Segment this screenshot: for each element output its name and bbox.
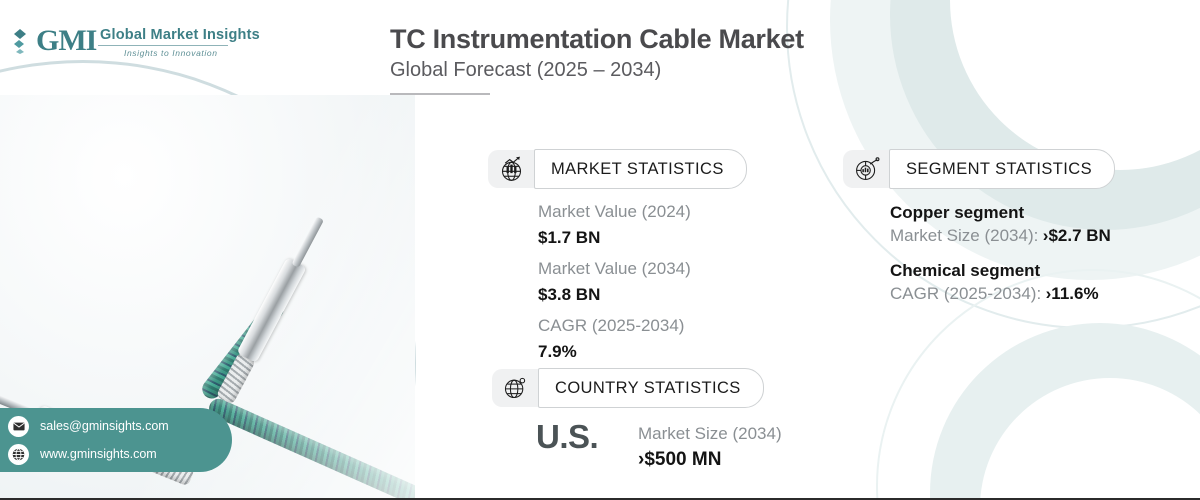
segment-row-2: Chemical segment CAGR (2025-2034): ›11.6… — [890, 257, 1099, 304]
contact-website-row[interactable]: www.gminsights.com — [8, 440, 232, 468]
country-stat-row: Market Size (2034) ›$500 MN — [638, 420, 782, 472]
decor-arc-top-right-inner — [950, 0, 1200, 170]
market-stat-value: 7.9% — [538, 339, 684, 364]
market-stat-row-1: Market Value (2024) $1.7 BN — [538, 198, 691, 250]
country-stat-value: ›$500 MN — [638, 447, 782, 472]
segment-heading: Chemical segment — [890, 257, 1099, 284]
globe-pin-icon — [492, 369, 538, 407]
globe-icon — [8, 444, 29, 465]
page-subtitle: Global Forecast (2025 – 2034) — [390, 59, 661, 82]
contact-email-row[interactable]: sales@gminsights.com — [8, 412, 232, 440]
market-stat-label: Market Value (2034) — [538, 255, 691, 282]
country-statistics-badge[interactable]: COUNTRY STATISTICS — [492, 369, 764, 407]
market-stat-label: CAGR (2025-2034) — [538, 312, 684, 339]
market-stat-row-3: CAGR (2025-2034) 7.9% — [538, 312, 684, 364]
infographic-canvas: GMI Global Market Insights Insights to I… — [0, 0, 1200, 500]
contact-bar: sales@gminsights.com www.gminsights.com — [0, 408, 232, 472]
country-stat-label: Market Size (2034) — [638, 420, 782, 447]
logo-abbr: GMI — [36, 24, 96, 58]
logo-underline — [98, 45, 228, 46]
contact-email: sales@gminsights.com — [40, 419, 169, 433]
market-statistics-badge[interactable]: MARKET STATISTICS — [488, 150, 747, 188]
page-title: TC Instrumentation Cable Market — [390, 24, 804, 55]
segment-label: CAGR (2025-2034): — [890, 284, 1041, 303]
decor-arc-bottom-right-outer — [930, 323, 1200, 500]
segment-heading: Copper segment — [890, 199, 1111, 226]
decor-arc-bottom-right-inner — [980, 378, 1200, 500]
market-stat-label: Market Value (2024) — [538, 198, 691, 225]
gmi-diamond-icon — [14, 28, 36, 54]
contact-website: www.gminsights.com — [40, 447, 157, 461]
market-stat-value: $1.7 BN — [538, 225, 691, 250]
envelope-icon — [8, 416, 29, 437]
market-stat-value: $3.8 BN — [538, 282, 691, 307]
segment-statistics-badge[interactable]: SEGMENT STATISTICS — [843, 150, 1115, 188]
logo-tagline: Insights to Innovation — [124, 48, 218, 58]
decor-arc-top-right-mid — [890, 0, 1200, 230]
globe-chart-icon — [488, 150, 534, 188]
segment-value: ›$2.7 BN — [1043, 226, 1111, 245]
country-statistics-label: COUNTRY STATISTICS — [538, 368, 764, 408]
pie-chart-arrow-icon — [843, 150, 889, 188]
segment-row-1: Copper segment Market Size (2034): ›$2.7… — [890, 199, 1111, 246]
segment-statistics-label: SEGMENT STATISTICS — [889, 149, 1115, 189]
market-stat-row-2: Market Value (2034) $3.8 BN — [538, 255, 691, 307]
country-name: U.S. — [536, 418, 598, 456]
market-statistics-label: MARKET STATISTICS — [534, 149, 747, 189]
logo-company-name: Global Market Insights — [100, 27, 260, 43]
gmi-logo[interactable]: GMI Global Market Insights Insights to I… — [14, 24, 229, 64]
segment-value: ›11.6% — [1046, 284, 1099, 303]
title-underline — [390, 93, 490, 95]
segment-label: Market Size (2034): — [890, 226, 1038, 245]
